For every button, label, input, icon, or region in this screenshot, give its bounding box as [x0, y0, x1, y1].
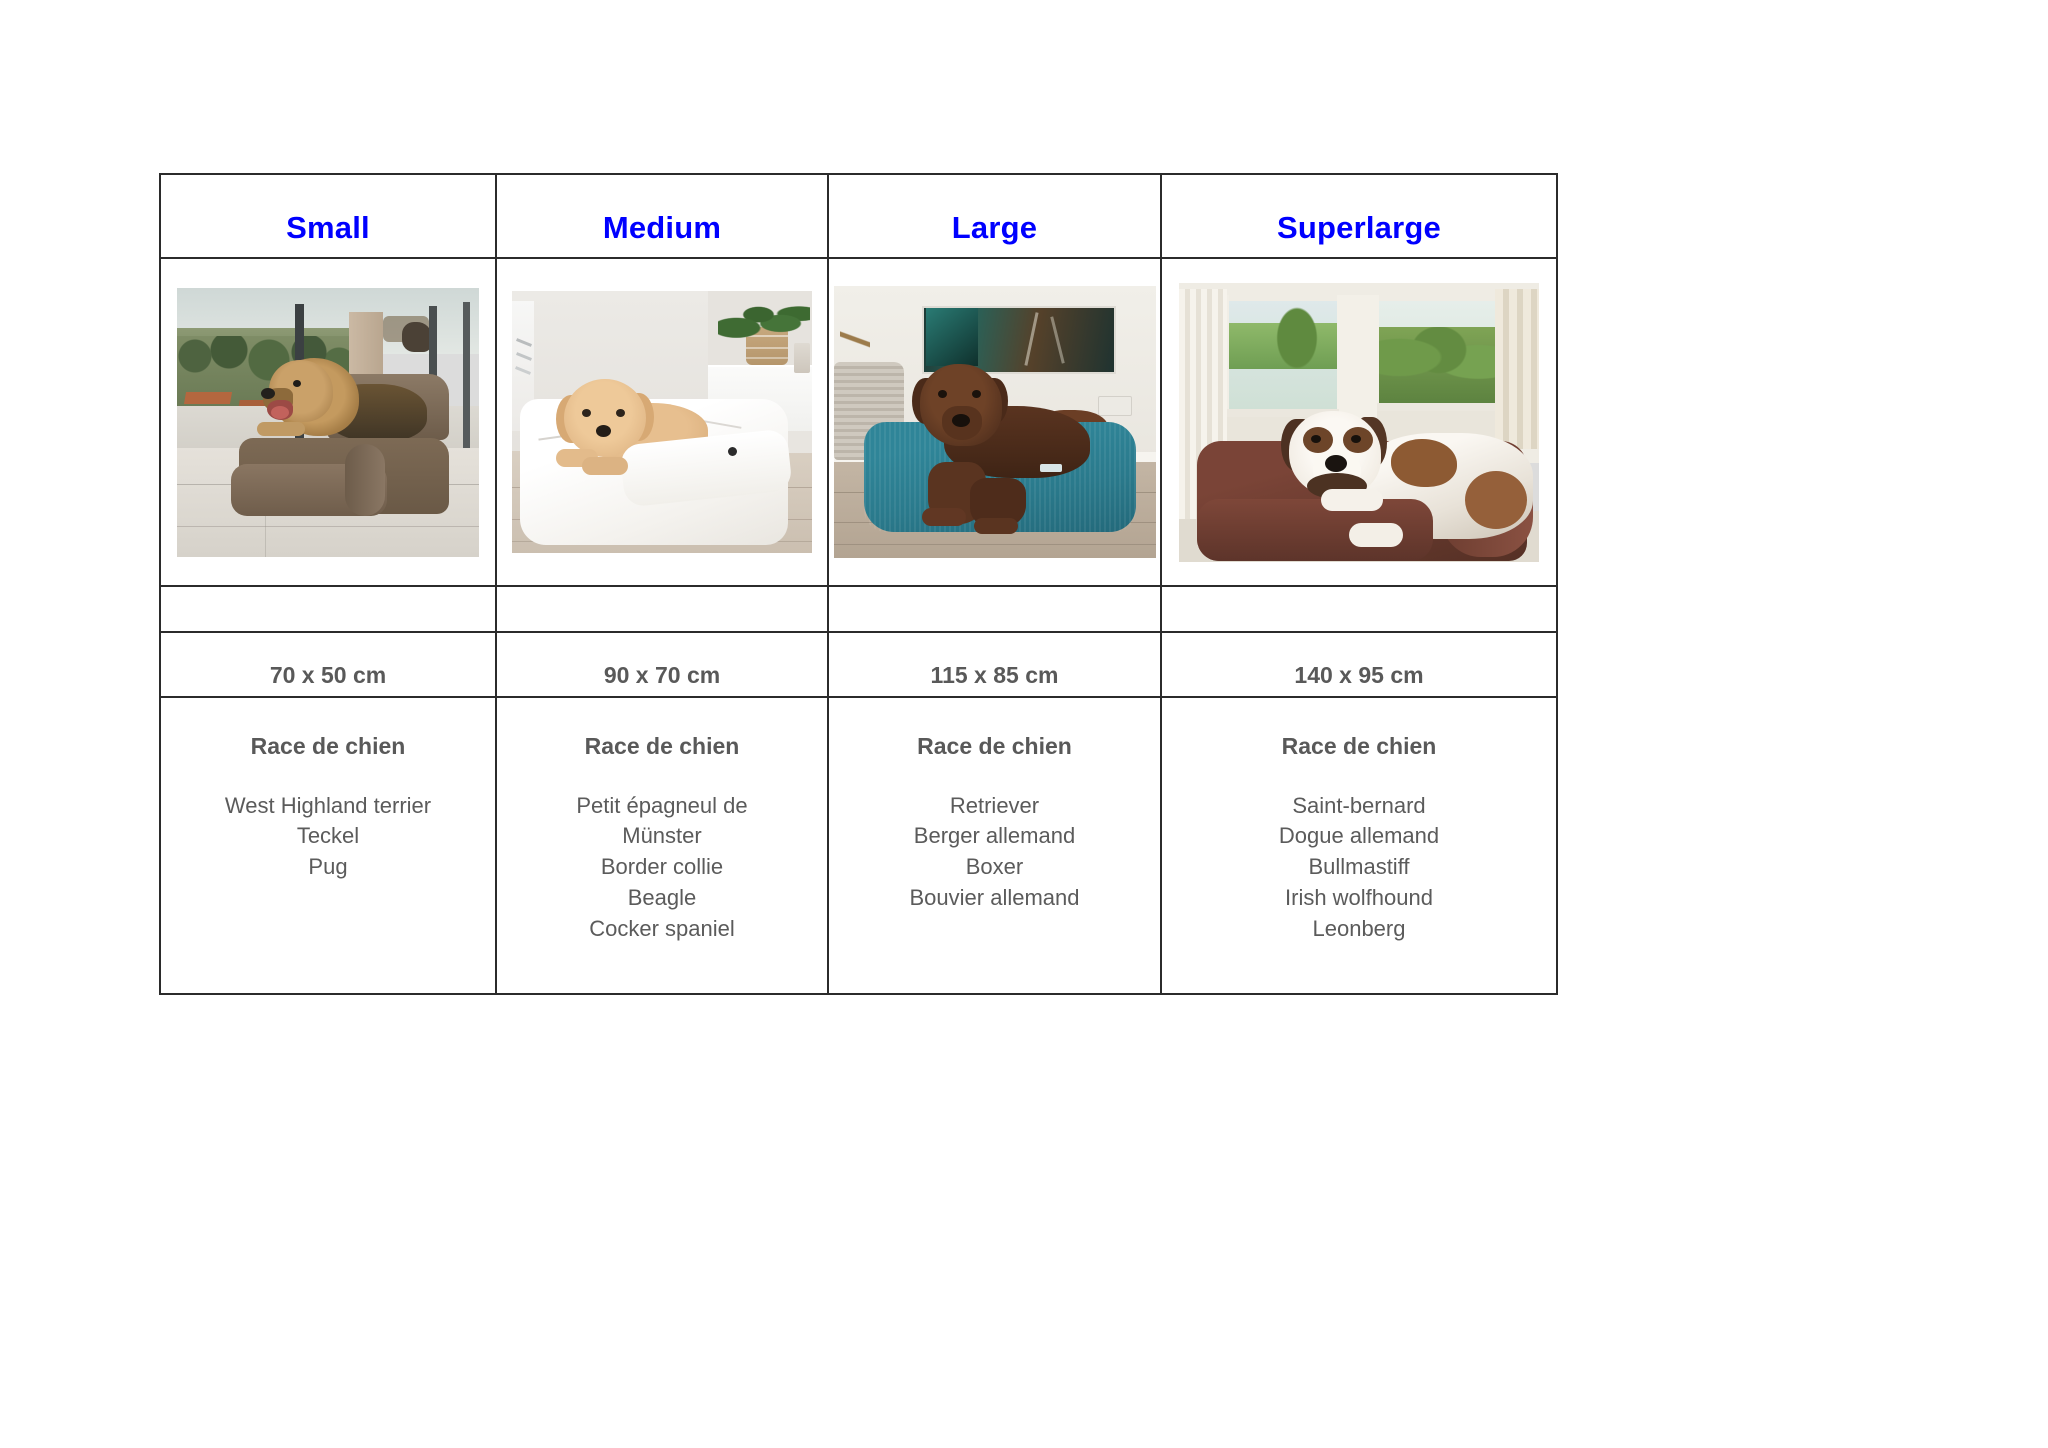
list-item: Retriever	[829, 791, 1160, 822]
dimension-value-superlarge: 140 x 95 cm	[1162, 642, 1556, 687]
dimension-cell-large: 115 x 85 cm	[828, 632, 1161, 697]
image-cell-superlarge	[1161, 258, 1557, 586]
table-dimension-row: 70 x 50 cm 90 x 70 cm 115 x 85 cm 140 x …	[160, 632, 1557, 697]
dog-bed-size-table: Small Medium Large Superlarge	[159, 173, 1558, 995]
header-cell-large: Large	[828, 174, 1161, 258]
spacer-cell-superlarge	[1161, 586, 1557, 632]
spacer-cell-large	[828, 586, 1161, 632]
breed-cell-superlarge: Race de chien Saint-bernard Dogue allema…	[1161, 697, 1557, 994]
list-item: Irish wolfhound	[1162, 883, 1556, 914]
list-item: Saint-bernard	[1162, 791, 1556, 822]
list-item: Bullmastiff	[1162, 852, 1556, 883]
list-item: Cocker spaniel	[497, 914, 827, 945]
list-item: Pug	[161, 852, 495, 883]
breed-heading-medium: Race de chien	[497, 733, 827, 761]
breed-cell-large: Race de chien Retriever Berger allemand …	[828, 697, 1161, 994]
product-photo-superlarge	[1179, 283, 1539, 562]
breed-list-large: Retriever Berger allemand Boxer Bouvier …	[829, 761, 1160, 914]
dimension-value-medium: 90 x 70 cm	[497, 642, 827, 687]
breed-heading-small: Race de chien	[161, 733, 495, 761]
product-photo-large	[834, 286, 1156, 558]
column-title-large: Large	[829, 190, 1160, 243]
product-photo-small	[177, 288, 479, 557]
list-item: Border collie	[497, 852, 827, 883]
list-item: Münster	[497, 821, 827, 852]
list-item: Leonberg	[1162, 914, 1556, 945]
image-cell-small	[160, 258, 496, 586]
list-item: Bouvier allemand	[829, 883, 1160, 914]
breed-heading-superlarge: Race de chien	[1162, 733, 1556, 761]
spacer-cell-small	[160, 586, 496, 632]
breed-cell-small: Race de chien West Highland terrier Teck…	[160, 697, 496, 994]
header-cell-superlarge: Superlarge	[1161, 174, 1557, 258]
dimension-value-small: 70 x 50 cm	[161, 642, 495, 687]
header-cell-small: Small	[160, 174, 496, 258]
breed-list-medium: Petit épagneul de Münster Border collie …	[497, 761, 827, 945]
column-title-superlarge: Superlarge	[1162, 190, 1556, 243]
list-item: Boxer	[829, 852, 1160, 883]
product-photo-medium	[512, 291, 812, 553]
spacer-cell-medium	[496, 586, 828, 632]
list-item: Petit épagneul de	[497, 791, 827, 822]
list-item: Berger allemand	[829, 821, 1160, 852]
image-cell-medium	[496, 258, 828, 586]
table-breed-row: Race de chien West Highland terrier Teck…	[160, 697, 1557, 994]
column-title-small: Small	[161, 190, 495, 243]
header-cell-medium: Medium	[496, 174, 828, 258]
table-spacer-row	[160, 586, 1557, 632]
dimension-cell-small: 70 x 50 cm	[160, 632, 496, 697]
page-canvas: Small Medium Large Superlarge	[0, 0, 2048, 1448]
list-item: Dogue allemand	[1162, 821, 1556, 852]
list-item: West Highland terrier	[161, 791, 495, 822]
list-item: Beagle	[497, 883, 827, 914]
breed-heading-large: Race de chien	[829, 733, 1160, 761]
list-item: Teckel	[161, 821, 495, 852]
image-cell-large	[828, 258, 1161, 586]
breed-list-superlarge: Saint-bernard Dogue allemand Bullmastiff…	[1162, 761, 1556, 945]
table-header-row: Small Medium Large Superlarge	[160, 174, 1557, 258]
dimension-value-large: 115 x 85 cm	[829, 642, 1160, 687]
breed-cell-medium: Race de chien Petit épagneul de Münster …	[496, 697, 828, 994]
breed-list-small: West Highland terrier Teckel Pug	[161, 761, 495, 883]
table-image-row	[160, 258, 1557, 586]
dimension-cell-medium: 90 x 70 cm	[496, 632, 828, 697]
column-title-medium: Medium	[497, 190, 827, 243]
dimension-cell-superlarge: 140 x 95 cm	[1161, 632, 1557, 697]
